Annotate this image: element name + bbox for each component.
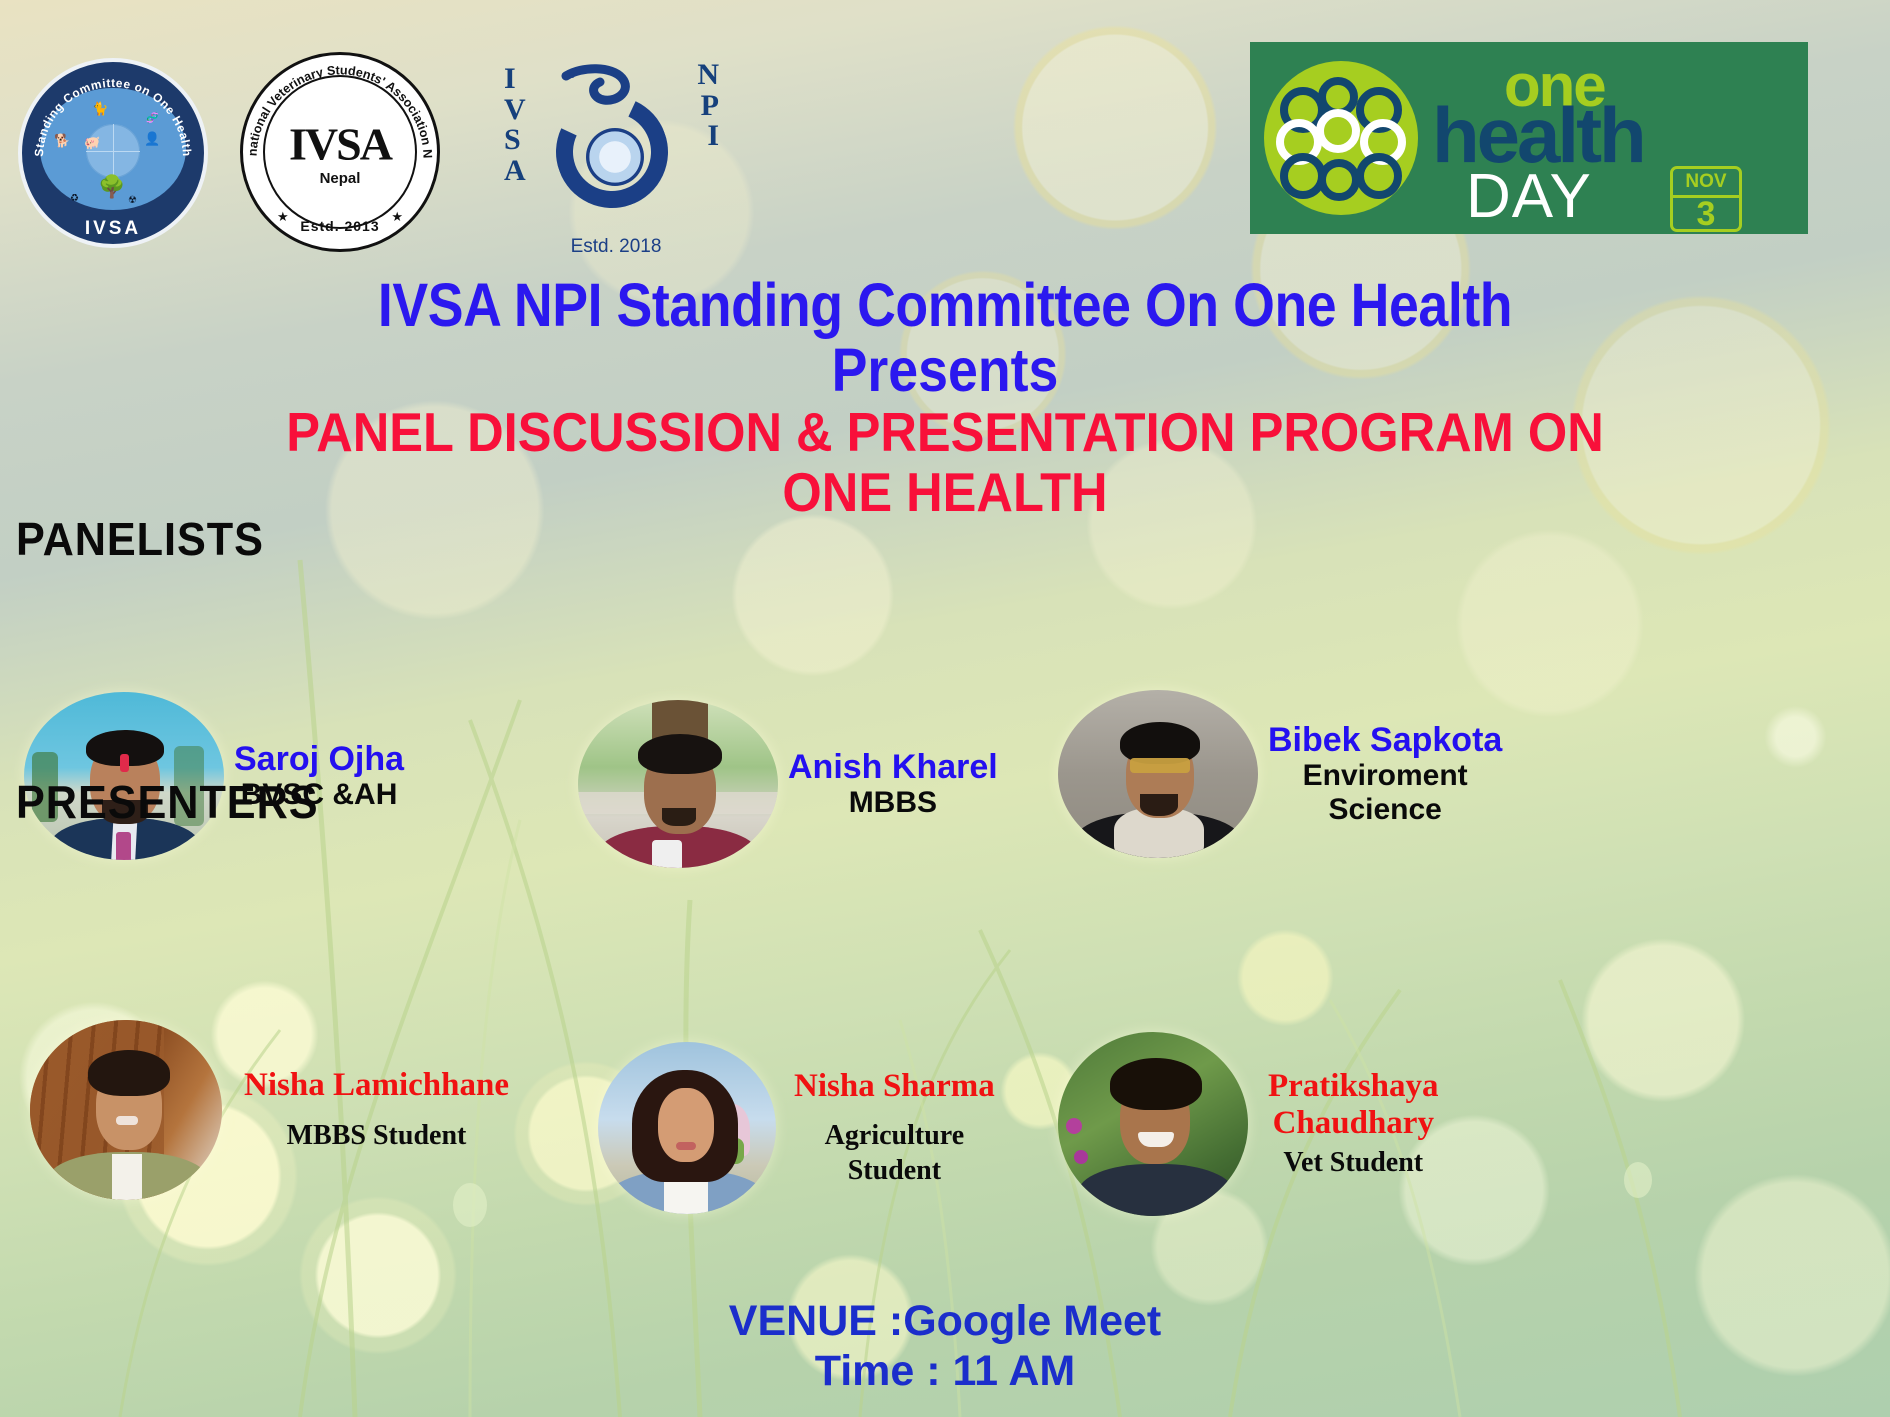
poster-title-line-2: Presents <box>113 335 1776 405</box>
ivsa-estd-text: Estd. 2013 <box>243 219 437 233</box>
presenter-role: Vet Student <box>1268 1145 1439 1180</box>
panelist-role: MBBS <box>788 786 998 820</box>
avatar <box>1058 1032 1248 1216</box>
panelist-card: Anish Kharel MBBS <box>578 700 998 868</box>
ohd-day-text: DAY <box>1466 166 1592 228</box>
presenter-role: Agriculture Student <box>794 1118 995 1188</box>
poster-subtitle-line-1: PANEL DISCUSSION & PRESENTATION PROGRAM … <box>76 400 1815 464</box>
ivsa-nepal-logo: International Veterinary Students' Assoc… <box>240 52 440 252</box>
scoh-logo: 🐈 🐕 🐖 👤 🧬 🌳 ♻ ☢ Standing Committee on On… <box>18 58 208 248</box>
ivsa-wordmark: IVSA <box>289 124 391 165</box>
svg-text:Standing Committee on One Heal: Standing Committee on One Health <box>32 76 194 157</box>
presenter-name: Nisha Lamichhane <box>244 1067 509 1104</box>
venue-text: VENUE :Google Meet <box>0 1295 1890 1347</box>
panelist-text: Bibek Sapkota Enviroment Science <box>1268 722 1502 827</box>
ivsa-npi-logo: I V S A N P I Estd. 2018 <box>500 42 725 254</box>
ohd-month-text: NOV <box>1673 170 1739 194</box>
presenter-card: Nisha Lamichhane MBBS Student <box>30 1020 509 1200</box>
presenters-section-label: PRESENTERS <box>16 775 319 829</box>
npi-center-emblem <box>586 128 644 186</box>
poster-subtitle-line-2: ONE HEALTH <box>76 460 1815 524</box>
ivsa-nepal-subtext: Nepal <box>320 171 361 186</box>
one-health-rings-icon <box>1264 61 1418 215</box>
presenter-card: Nisha Sharma Agriculture Student <box>598 1042 995 1214</box>
panelist-name: Saroj Ojha <box>234 741 404 778</box>
presenter-text: Nisha Sharma Agriculture Student <box>794 1068 995 1189</box>
scoh-abbr: IVSA <box>22 219 204 238</box>
one-health-day-wordmark: one health DAY NOV 3 <box>1418 42 1794 234</box>
panelists-section-label: PANELISTS <box>16 512 264 566</box>
calendar-badge-icon: NOV 3 <box>1670 166 1742 232</box>
presenter-name: Nisha Sharma <box>794 1068 995 1105</box>
presenter-name: Pratikshaya Chaudhary <box>1268 1068 1439 1142</box>
presenter-role: MBBS Student <box>244 1118 509 1153</box>
one-health-day-banner: one health DAY NOV 3 <box>1250 42 1808 234</box>
panelist-text: Anish Kharel MBBS <box>788 749 998 820</box>
panelist-name: Anish Kharel <box>788 749 998 786</box>
npi-left-letters: I V S A <box>504 64 526 186</box>
presenter-text: Pratikshaya Chaudhary Vet Student <box>1268 1068 1439 1181</box>
npi-estd-text: Estd. 2018 <box>546 237 686 256</box>
presenter-text: Nisha Lamichhane MBBS Student <box>244 1067 509 1153</box>
panelist-card: Bibek Sapkota Enviroment Science <box>1058 690 1502 858</box>
avatar <box>598 1042 776 1214</box>
panelist-name: Bibek Sapkota <box>1268 722 1502 759</box>
header-logo-strip: 🐈 🐕 🐖 👤 🧬 🌳 ♻ ☢ Standing Committee on On… <box>0 0 1890 250</box>
scoh-ring-text: Standing Committee on One Health <box>22 62 204 244</box>
event-poster: 🐈 🐕 🐖 👤 🧬 🌳 ♻ ☢ Standing Committee on On… <box>0 0 1890 1417</box>
panelist-role: Enviroment Science <box>1268 759 1502 826</box>
time-text: Time : 11 AM <box>0 1345 1890 1397</box>
poster-title-line-1: IVSA NPI Standing Committee On One Healt… <box>113 270 1776 340</box>
avatar <box>578 700 778 868</box>
npi-right-letters: N P I <box>697 60 719 152</box>
avatar <box>1058 690 1258 858</box>
avatar <box>30 1020 222 1200</box>
presenter-card: Pratikshaya Chaudhary Vet Student <box>1058 1032 1439 1216</box>
ohd-date-text: 3 <box>1673 196 1739 233</box>
snake-icon <box>560 64 652 120</box>
